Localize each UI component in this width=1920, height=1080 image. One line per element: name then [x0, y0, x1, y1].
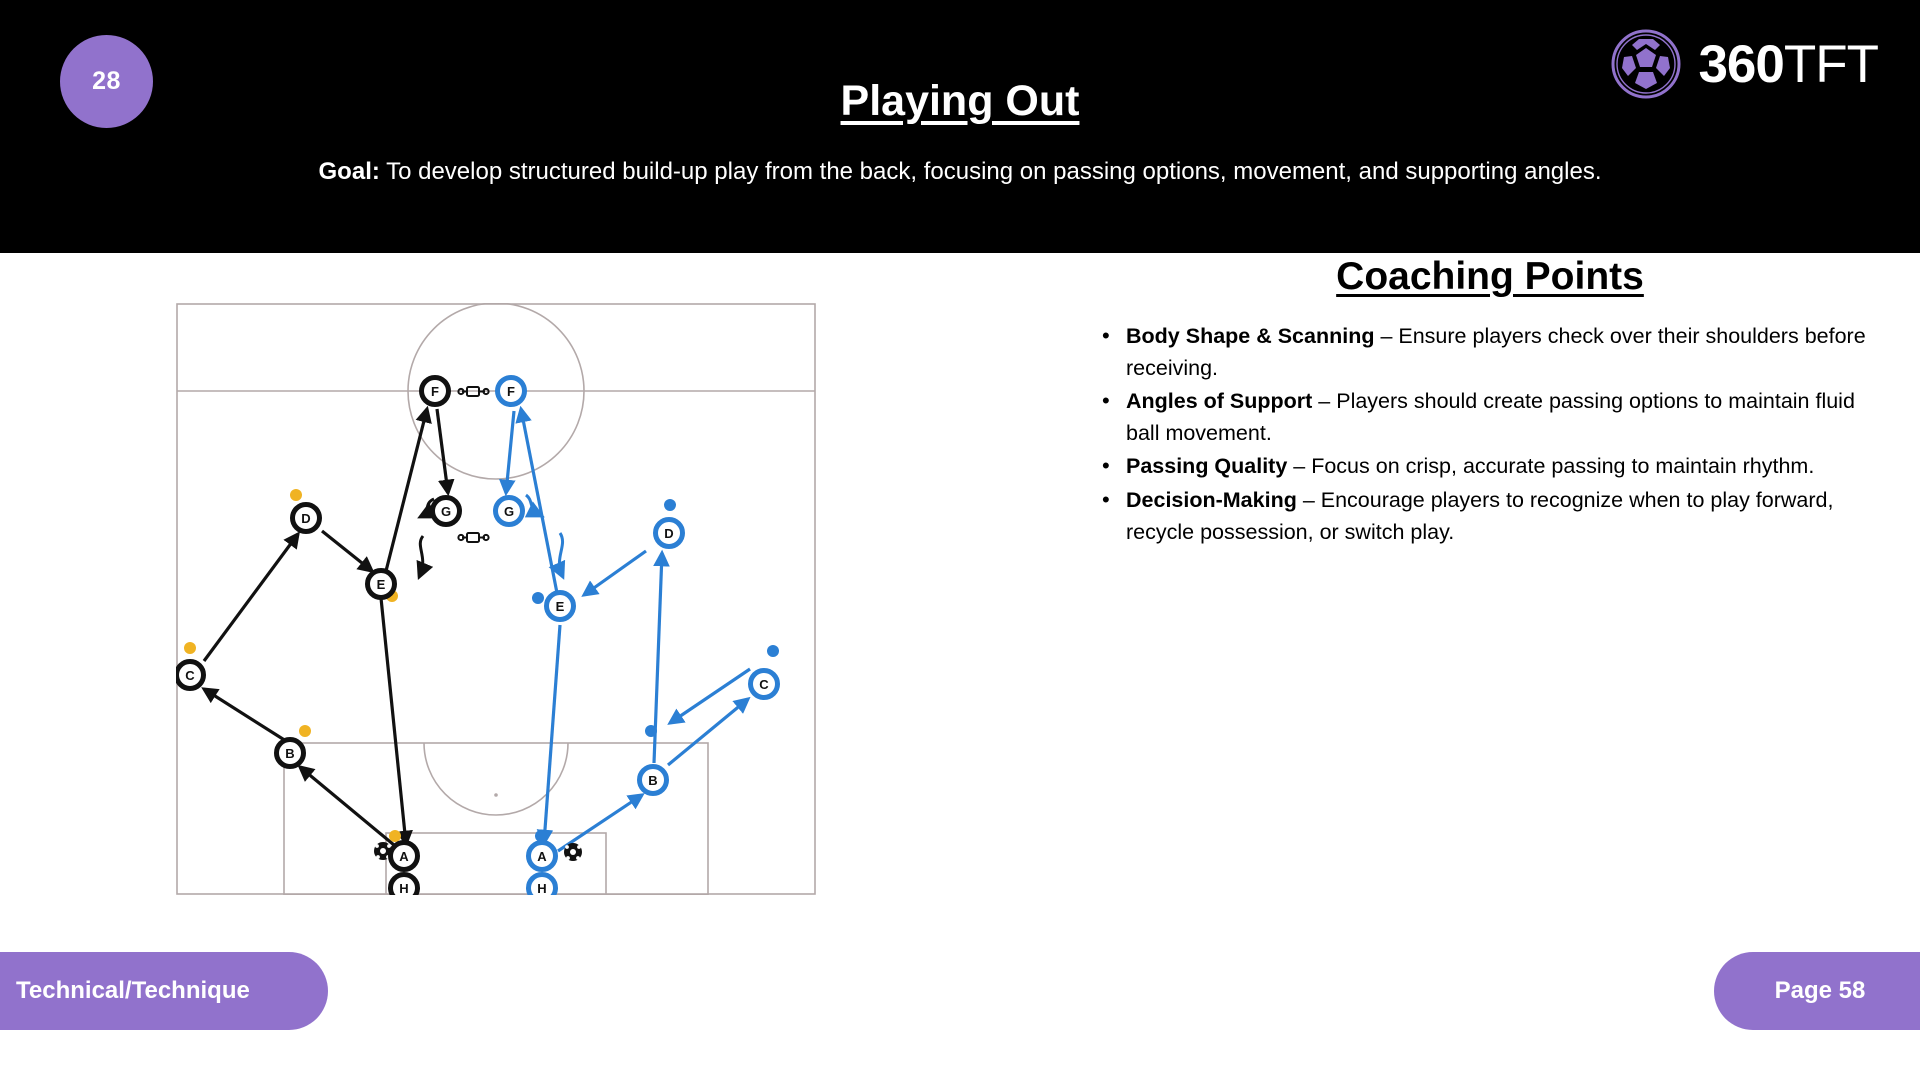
svg-text:A: A — [399, 849, 409, 864]
cone-marker — [389, 830, 401, 842]
pass-arrow-b-to-c — [204, 689, 286, 741]
dribble-arrow-blue-2 — [559, 533, 562, 575]
blue-pass-arrows — [506, 409, 750, 851]
player-token-black-g[interactable]: G — [433, 498, 460, 525]
player-token-black-e[interactable]: E — [368, 571, 395, 598]
soccer-ball-icon — [1610, 28, 1682, 100]
page-number-pill[interactable]: Page 58 — [1714, 952, 1920, 1030]
cone-marker — [299, 725, 311, 737]
drill-diagram: F G D E C B A H F G D E — [176, 303, 816, 895]
player-token-blue-c[interactable]: C — [751, 671, 778, 698]
penalty-spot — [494, 793, 498, 797]
pass-arrow-blue-d-to-e — [584, 551, 646, 595]
player-token-blue-b[interactable]: B — [640, 767, 667, 794]
category-pill-label: Technical/Technique — [16, 977, 250, 1005]
player-token-blue-g[interactable]: G — [496, 498, 523, 525]
svg-text:D: D — [301, 511, 310, 526]
svg-text:G: G — [504, 504, 514, 519]
coaching-points-title: Coaching Points — [1090, 255, 1890, 299]
player-token-black-b[interactable]: B — [277, 740, 304, 767]
svg-text:C: C — [759, 677, 769, 692]
pass-arrow-f-to-g — [437, 409, 448, 493]
black-pass-arrows — [204, 409, 448, 845]
logo-text-secondary: TFT — [1784, 35, 1878, 94]
cone-marker — [645, 725, 657, 737]
pass-arrow-blue-a-to-b — [558, 795, 642, 851]
goal-text: To develop structured build-up play from… — [386, 158, 1601, 185]
cone-marker — [767, 645, 779, 657]
svg-text:A: A — [537, 849, 547, 864]
pass-arrow-c-to-d — [204, 534, 298, 661]
page-number-label: Page 58 — [1775, 977, 1866, 1005]
soccer-ball-marker-2 — [564, 843, 582, 861]
goal-label: Goal: — [319, 158, 380, 185]
svg-text:C: C — [185, 668, 195, 683]
coaching-point-term: Decision-Making — [1126, 488, 1297, 512]
svg-text:F: F — [507, 384, 515, 399]
player-token-black-d[interactable]: D — [293, 505, 320, 532]
dribble-arrow-black-2 — [420, 536, 423, 575]
list-item: Passing Quality – Focus on crisp, accura… — [1122, 451, 1890, 483]
player-token-blue-a[interactable]: A — [529, 843, 556, 870]
coaching-point-term: Body Shape & Scanning — [1126, 324, 1374, 348]
pitch-svg: F G D E C B A H F G D E — [176, 303, 816, 895]
pass-arrow-d-to-e — [322, 531, 372, 571]
player-token-black-c[interactable]: C — [177, 662, 204, 689]
coaching-point-detail: – Focus on crisp, accurate passing to ma… — [1287, 454, 1814, 478]
pass-arrow-e-to-a — [381, 598, 406, 844]
cone-marker — [532, 592, 544, 604]
svg-text:D: D — [664, 526, 673, 541]
cone-marker — [290, 489, 302, 501]
player-token-blue-d[interactable]: D — [656, 520, 683, 547]
svg-text:B: B — [648, 773, 657, 788]
coaching-points-panel: Coaching Points Body Shape & Scanning – … — [1090, 255, 1890, 550]
svg-text:H: H — [537, 881, 546, 895]
list-item: Angles of Support – Players should creat… — [1122, 386, 1890, 449]
coaching-point-term: Passing Quality — [1126, 454, 1287, 478]
svg-text:H: H — [399, 881, 408, 895]
svg-text:F: F — [431, 384, 439, 399]
player-token-blue-h[interactable]: H — [529, 875, 556, 896]
svg-text:G: G — [441, 504, 451, 519]
coaching-points-list: Body Shape & Scanning – Ensure players c… — [1090, 321, 1890, 548]
list-item: Body Shape & Scanning – Ensure players c… — [1122, 321, 1890, 384]
brand-logo: 360TFT — [1610, 28, 1878, 100]
logo-wordmark: 360TFT — [1698, 38, 1878, 91]
equipment-marker-icon-2 — [458, 533, 488, 542]
list-item: Decision-Making – Encourage players to r… — [1122, 485, 1890, 548]
pass-arrow-a-to-b — [300, 767, 394, 845]
category-pill[interactable]: Technical/Technique — [0, 952, 328, 1030]
pass-arrow-blue-f-to-g — [506, 411, 514, 493]
logo-text-primary: 360 — [1698, 35, 1783, 94]
pass-arrow-blue-e-to-a — [544, 625, 560, 843]
goal-statement: Goal: To develop structured build-up pla… — [0, 158, 1920, 186]
cone-marker — [184, 642, 196, 654]
cone-marker — [664, 499, 676, 511]
svg-text:E: E — [556, 599, 565, 614]
player-token-black-h[interactable]: H — [391, 875, 418, 896]
svg-text:E: E — [377, 577, 386, 592]
player-token-black-a[interactable]: A — [391, 843, 418, 870]
player-token-blue-e[interactable]: E — [547, 593, 574, 620]
pass-arrow-blue-e-to-f — [521, 409, 557, 593]
coaching-point-term: Angles of Support — [1126, 389, 1312, 413]
player-token-black-f[interactable]: F — [422, 378, 449, 405]
svg-text:B: B — [285, 746, 294, 761]
pass-arrow-blue-c-to-b — [670, 669, 750, 723]
player-token-blue-f[interactable]: F — [498, 378, 525, 405]
